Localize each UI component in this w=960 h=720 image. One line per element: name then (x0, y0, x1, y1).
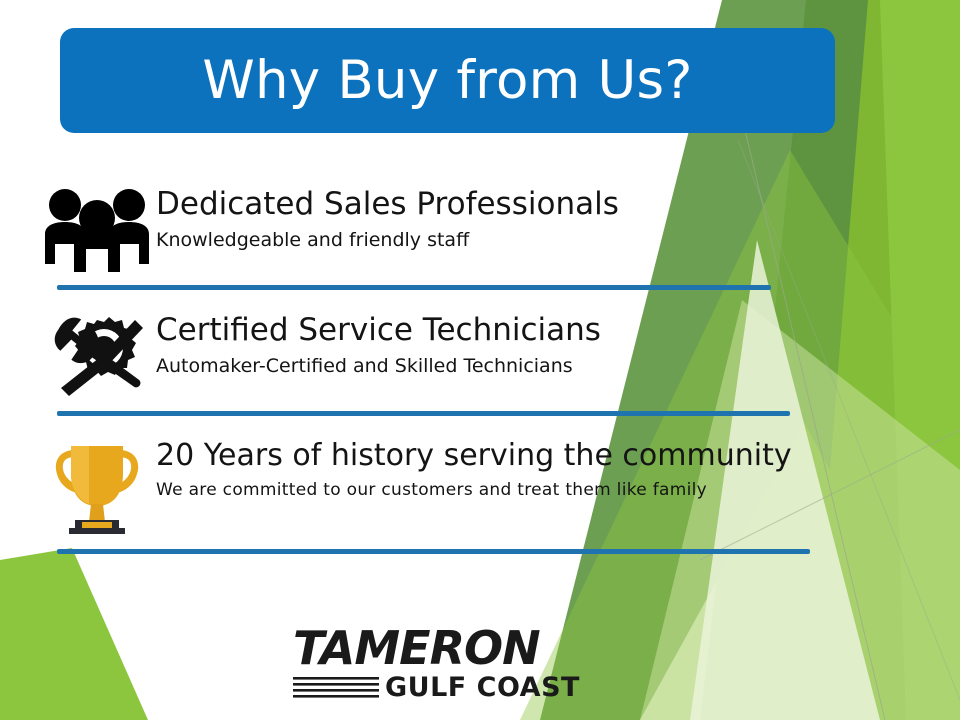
feature-text-block: Certified Service Technicians Automaker-… (156, 312, 601, 377)
feature-row: 20 Years of history serving the communit… (38, 438, 792, 534)
feature-text-block: 20 Years of history serving the communit… (156, 438, 792, 499)
people-group-icon (38, 186, 156, 272)
feature-row: Certified Service Technicians Automaker-… (38, 312, 601, 398)
logo-stripes-icon (293, 675, 379, 701)
decor-shape-bottom-left (0, 548, 148, 720)
section-divider (57, 285, 771, 290)
feature-title: Dedicated Sales Professionals (156, 188, 619, 221)
feature-text-block: Dedicated Sales Professionals Knowledgea… (156, 186, 619, 251)
brand-logo-wordmark: TAMERON (293, 625, 565, 671)
feature-subtitle: Automaker-Certified and Skilled Technici… (156, 356, 601, 377)
wrench-screwdriver-gear-icon (38, 312, 156, 398)
slide-canvas: Why Buy from Us? Dedicated Sales Profess… (0, 0, 960, 720)
feature-title: 20 Years of history serving the communit… (156, 440, 792, 472)
decor-hairline-1 (745, 130, 885, 720)
brand-logo: TAMERON GULF COAST (293, 625, 565, 697)
feature-title: Certified Service Technicians (156, 314, 601, 347)
brand-logo-subtext: GULF COAST (385, 674, 580, 701)
decor-hairline-3 (738, 140, 960, 700)
feature-subtitle: We are committed to our customers and tr… (156, 481, 792, 500)
trophy-icon (38, 438, 156, 534)
page-title: Why Buy from Us? (202, 54, 692, 107)
feature-row: Dedicated Sales Professionals Knowledgea… (38, 186, 619, 272)
feature-subtitle: Knowledgeable and friendly staff (156, 230, 619, 251)
section-divider (57, 411, 790, 416)
brand-logo-subline: GULF COAST (293, 674, 565, 701)
section-divider (57, 549, 810, 554)
title-banner: Why Buy from Us? (60, 28, 835, 133)
